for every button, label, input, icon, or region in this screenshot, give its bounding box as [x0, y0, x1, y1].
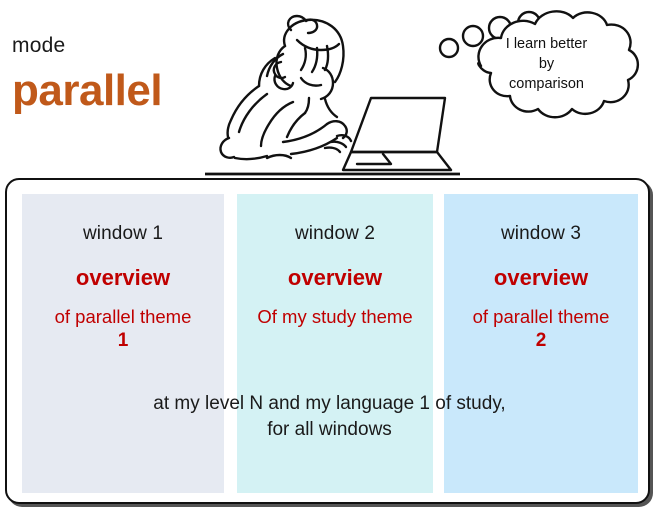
windows-container: window 1 overview of parallel theme 1 wi…: [5, 178, 650, 504]
window-panel-3-subtitle: of parallel theme: [444, 304, 638, 329]
window-panel-3-title: window 3: [444, 222, 638, 246]
window-panel-1-heading: overview: [22, 265, 224, 291]
window-panel-1-subtitle: of parallel theme: [22, 304, 224, 329]
window-panel-1-number: 1: [22, 329, 224, 353]
mode-label: mode: [12, 34, 65, 58]
window-panel-2-subtitle: Of my study theme: [237, 304, 433, 329]
window-panel-2[interactable]: window 2 overview Of my study theme: [237, 194, 433, 493]
thought-bubble: I learn better by comparison: [437, 4, 656, 134]
window-panel-3-heading: overview: [444, 265, 638, 291]
window-panel-3-number: 2: [444, 329, 638, 353]
thought-bubble-line-3: comparison: [509, 76, 584, 92]
window-panel-3[interactable]: window 3 overview of parallel theme 2: [444, 194, 638, 493]
window-panel-2-title: window 2: [237, 222, 433, 246]
window-panels: window 1 overview of parallel theme 1 wi…: [7, 180, 648, 502]
window-panel-1-title: window 1: [22, 222, 224, 246]
window-panel-1[interactable]: window 1 overview of parallel theme 1: [22, 194, 224, 493]
mode-value: parallel: [12, 64, 162, 118]
thought-bubble-line-2: by: [539, 56, 554, 72]
window-panel-2-heading: overview: [237, 265, 433, 291]
thought-bubble-line-1: I learn better: [506, 36, 587, 52]
student-at-laptop-icon: [205, 2, 460, 178]
thought-bubble-text: I learn better by comparison: [437, 34, 656, 94]
